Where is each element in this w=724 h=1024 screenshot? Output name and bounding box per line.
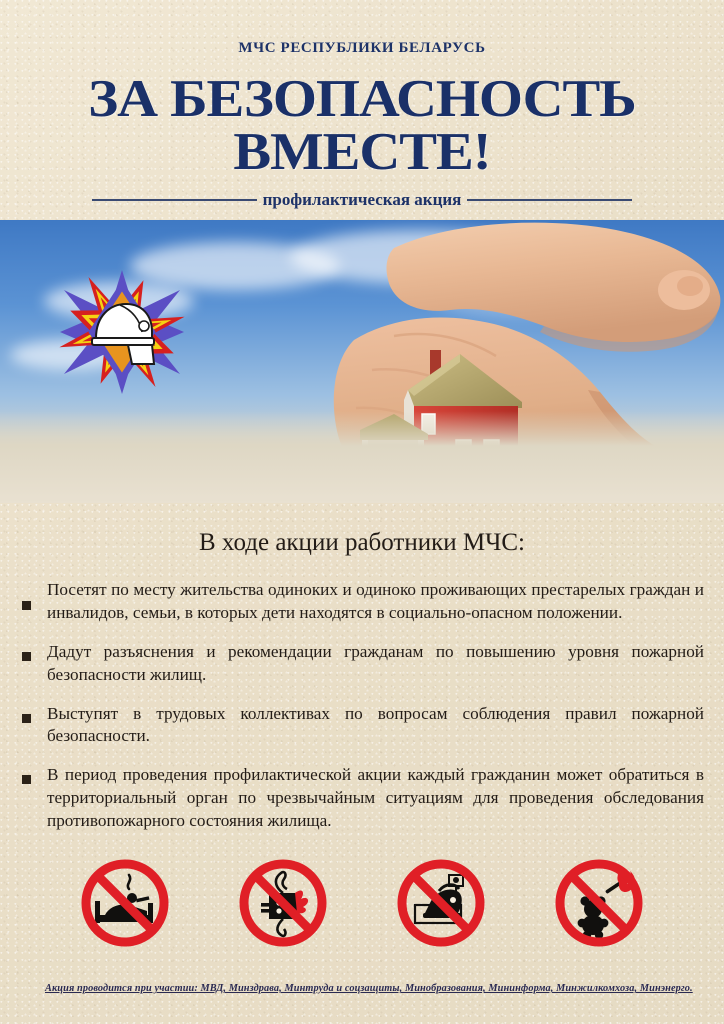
divider-left [92, 199, 257, 201]
list-item-text: В период проведения профилактической акц… [47, 764, 704, 833]
divider-right [467, 199, 632, 201]
footer: Акция проводится при участии: МВД, Минзд… [45, 978, 704, 996]
list-item: В период проведения профилактической акц… [22, 764, 704, 833]
subtitle: профилактическая акция [257, 190, 468, 210]
no-children-with-matches-icon [549, 853, 649, 953]
no-faulty-electrical-outlet-icon [233, 853, 333, 953]
bullet-marker-icon [22, 601, 31, 610]
ground-surface [0, 411, 724, 503]
organization-name: МЧС РЕСПУБЛИКИ БЕЛАРУСЬ [0, 0, 724, 57]
page-title: ЗА БЕЗОПАСНОСТЬ ВМЕСТЕ! [0, 73, 724, 179]
bullet-marker-icon [22, 652, 31, 661]
mchs-emblem-icon [58, 268, 186, 396]
bullet-list: Посетят по месту жительства одиноких и о… [0, 579, 724, 833]
hero-photo [0, 220, 724, 503]
no-smoking-in-bed-icon [75, 853, 175, 953]
footer-partners-text: Акция проводится при участии: МВД, Минзд… [45, 983, 693, 994]
subtitle-row: профилактическая акция [0, 190, 724, 210]
prohibition-icons-row [0, 853, 724, 953]
list-item-text: Посетят по месту жительства одиноких и о… [47, 579, 704, 625]
list-item-text: Выступят в трудовых коллективах по вопро… [47, 703, 704, 749]
section-heading: В ходе акции работники МЧС: [0, 529, 724, 557]
list-item-text: Дадут разъяснения и рекомендации граждан… [47, 641, 704, 687]
list-item: Дадут разъяснения и рекомендации граждан… [22, 641, 704, 687]
list-item: Посетят по месту жительства одиноких и о… [22, 579, 704, 625]
poster-page: МЧС РЕСПУБЛИКИ БЕЛАРУСЬ ЗА БЕЗОПАСНОСТЬ … [0, 0, 724, 1024]
bullet-marker-icon [22, 714, 31, 723]
no-unattended-iron-icon [391, 853, 491, 953]
list-item: Выступят в трудовых коллективах по вопро… [22, 703, 704, 749]
bullet-marker-icon [22, 775, 31, 784]
